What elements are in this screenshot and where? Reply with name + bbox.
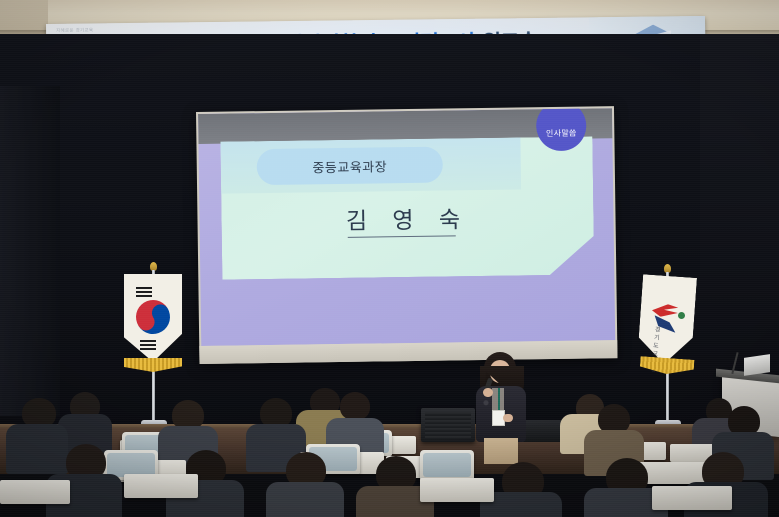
desk [652, 486, 732, 510]
slide-card: 중등교육과장 김 영 숙 [220, 136, 594, 279]
slide-name-underline [348, 235, 456, 238]
flag-institution: 경기도교육청 [628, 264, 718, 434]
presenter-skirt [484, 438, 518, 464]
desk [420, 478, 494, 502]
slide-speaker-name: 김 영 숙 [221, 198, 593, 237]
presenter [470, 352, 532, 462]
lanyard [498, 388, 500, 412]
trigram-1c [136, 295, 152, 297]
banner-mini-logo: 지혜로운 경기교육 [56, 27, 93, 33]
speaker-grill [425, 412, 471, 438]
flag-fringe-left [124, 358, 182, 372]
slide-role-text: 중등교육과장 [312, 156, 387, 176]
desk [0, 480, 70, 504]
trigram-2b [140, 344, 156, 346]
auditorium-photo: 지혜로운 경기교육 2026학년도 경기도 대입진학지도 리더교사 워크숍 일시… [0, 0, 779, 517]
audience-head [340, 392, 370, 420]
projection-screen: 중등교육과장 김 영 숙 인사말씀 [196, 106, 617, 364]
audience-torso [266, 482, 344, 517]
slide-corner-badge-text: 인사말씀 [546, 128, 577, 139]
ceiling-left-panel [0, 0, 48, 34]
presenter-hand-right [503, 414, 513, 422]
stage-monitor-speaker [421, 408, 475, 442]
laptop-on-lectern [744, 354, 770, 376]
trigram-2c [140, 348, 156, 350]
projected-slide: 중등교육과장 김 영 숙 인사말씀 [198, 108, 615, 346]
trigram-1a [136, 287, 152, 289]
trigram-2a [140, 340, 156, 342]
emblem-green-dot [678, 312, 685, 319]
flag-cloth-right [637, 274, 697, 366]
presenter-hand-left [483, 388, 493, 397]
slide-role-pill: 중등교육과장 [257, 147, 443, 186]
desk [124, 474, 198, 498]
hall-left-wall [0, 86, 60, 416]
audience-torso [6, 424, 68, 474]
chair [420, 450, 474, 480]
trigram-1b [136, 291, 152, 293]
